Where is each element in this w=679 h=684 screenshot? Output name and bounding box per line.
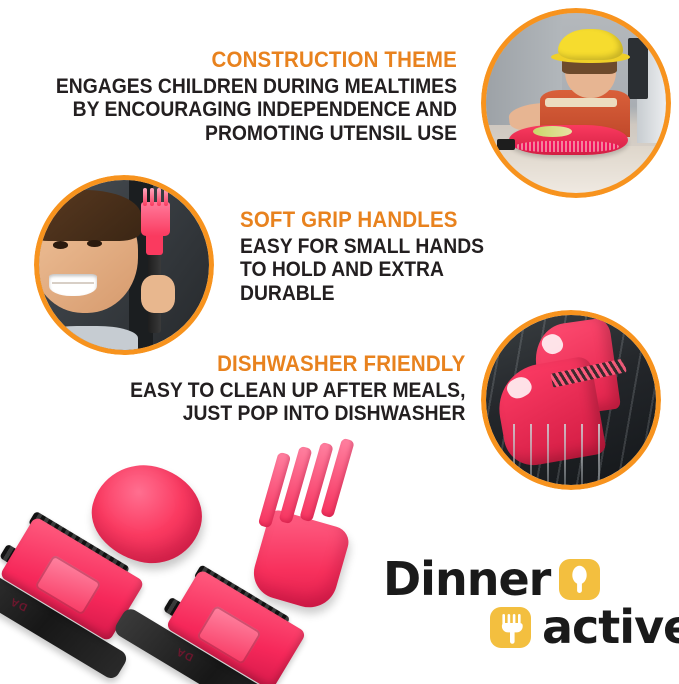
- feature-block-dishwasher-friendly: DISHWASHER FRIENDLY EASY TO CLEAN UP AFT…: [101, 352, 465, 426]
- feature-body-line: JUST POP INTO DISHWASHER: [130, 402, 465, 426]
- plate-tread-detail: [515, 141, 619, 152]
- logo-word-dinner: Dinner: [383, 556, 550, 602]
- feature-body-line: EASY TO CLEAN UP AFTER MEALS,: [130, 379, 465, 403]
- rack-tine: [564, 424, 566, 485]
- child-eye-left: [53, 241, 68, 249]
- child-hand: [141, 275, 175, 312]
- feature-body-line: ENGAGES CHILDREN DURING MEALTIMES: [56, 75, 457, 99]
- rack-tine: [598, 424, 600, 485]
- rack-tine: [547, 424, 549, 485]
- feature-photo-dishwasher-friendly: [481, 310, 661, 490]
- fork-tine: [157, 188, 161, 206]
- child-hair: [39, 190, 141, 241]
- toy-truck: [497, 139, 515, 150]
- fork-icon: [490, 607, 531, 648]
- rack-tine: [581, 424, 583, 485]
- feature-body-construction-theme: ENGAGES CHILDREN DURING MEALTIMES BY ENC…: [56, 75, 457, 146]
- feature-headline-construction-theme: CONSTRUCTION THEME: [52, 48, 457, 72]
- photo-frame: [486, 315, 656, 485]
- child-shirt: [39, 326, 138, 350]
- photo-frame: [39, 180, 209, 350]
- fork-head: [141, 202, 170, 236]
- feature-body-line: EASY FOR SMALL HANDS: [240, 235, 484, 259]
- spoon-icon: [559, 559, 600, 600]
- feature-headline-soft-grip-handles: SOFT GRIP HANDLES: [240, 208, 487, 232]
- shirt-stripe: [545, 98, 617, 107]
- scene-boy-eating-at-table: [486, 13, 666, 193]
- fork-tine: [150, 188, 154, 206]
- rack-tine: [513, 424, 515, 485]
- scene-smiling-boy-holding-fork: [39, 180, 209, 350]
- fork-tine: [164, 188, 168, 206]
- feature-body-soft-grip-handles: EASY FOR SMALL HANDS TO HOLD AND EXTRA D…: [240, 235, 484, 306]
- hard-hat-icon: [558, 29, 623, 60]
- feature-body-line: BY ENCOURAGING INDEPENDENCE AND: [56, 98, 457, 122]
- child-eye-right: [87, 240, 102, 248]
- photo-frame: [486, 13, 666, 193]
- brand-logo: Dinner active: [383, 556, 667, 668]
- product-hero-utensils: DA DA: [0, 440, 366, 684]
- feature-block-construction-theme: CONSTRUCTION THEME ENGAGES CHILDREN DURI…: [21, 48, 457, 145]
- scene-utensils-in-dishwasher: [486, 315, 656, 485]
- feature-body-line: DURABLE: [240, 282, 484, 306]
- dark-panel: [628, 38, 648, 99]
- feature-body-line: PROMOTING UTENSIL USE: [56, 122, 457, 146]
- product-infographic: CONSTRUCTION THEME ENGAGES CHILDREN DURI…: [0, 0, 679, 684]
- logo-row-dinner: Dinner: [383, 556, 600, 602]
- feature-photo-soft-grip-handles: [34, 175, 214, 355]
- logo-word-active: active: [542, 604, 679, 650]
- feature-body-line: TO HOLD AND EXTRA: [240, 258, 484, 282]
- feature-body-dishwasher-friendly: EASY TO CLEAN UP AFTER MEALS, JUST POP I…: [130, 379, 465, 426]
- child-smile: [49, 274, 97, 296]
- feature-headline-dishwasher-friendly: DISHWASHER FRIENDLY: [126, 352, 465, 376]
- fork-tine: [143, 188, 147, 206]
- feature-block-soft-grip-handles: SOFT GRIP HANDLES EASY FOR SMALL HANDS T…: [240, 208, 505, 305]
- feature-photo-construction-theme: [481, 8, 671, 198]
- logo-row-active: active: [490, 604, 679, 650]
- rack-tine: [530, 424, 532, 485]
